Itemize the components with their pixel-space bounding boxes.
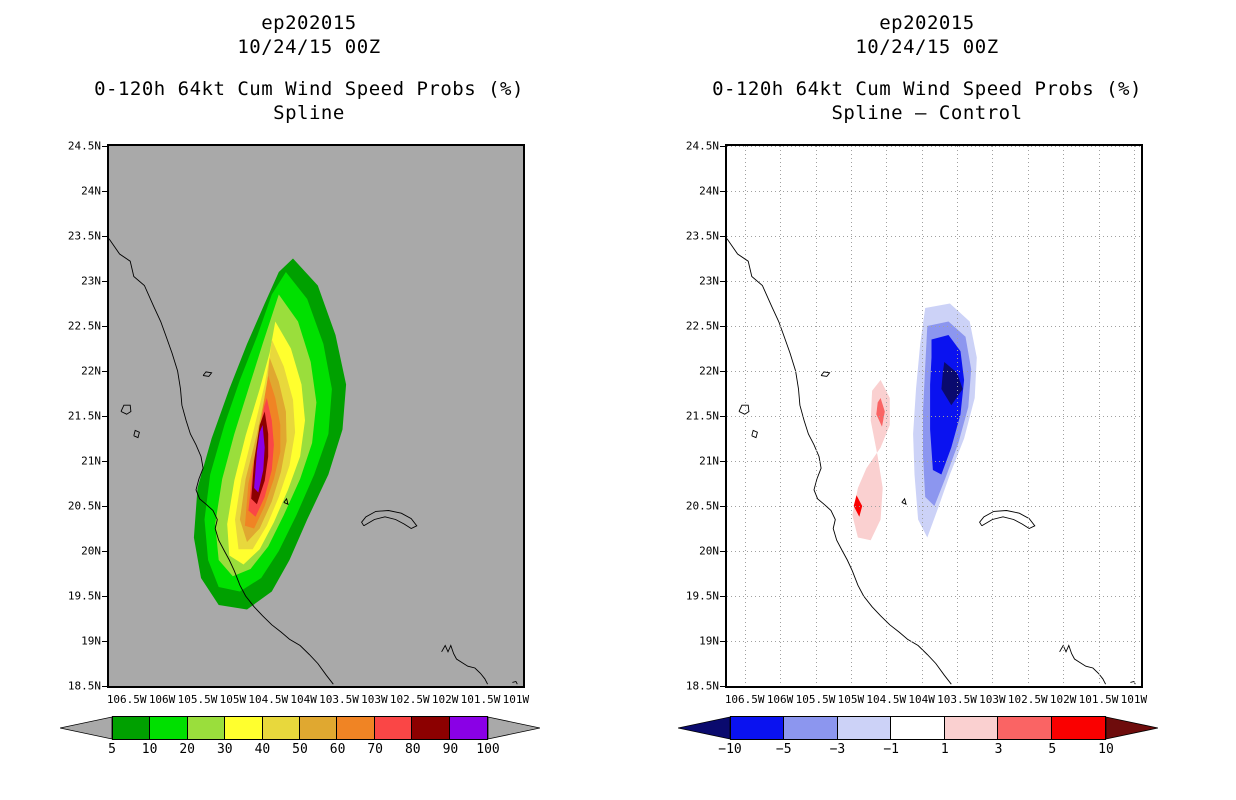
- colorbar-swatch: [838, 717, 891, 739]
- x-axis-tick-label: 103.5W: [319, 688, 359, 706]
- colorbar-tick-label: 5: [1048, 742, 1056, 757]
- colorbar-swatch: [784, 717, 837, 739]
- colorbar-swatch: [263, 717, 300, 739]
- x-axis-tick-label: 106.5W: [107, 688, 147, 706]
- x-axis-tick-label: 106W: [149, 688, 176, 706]
- colorbar-tick-label: 30: [217, 742, 233, 757]
- colorbar-swatch: [945, 717, 998, 739]
- coastline: [121, 405, 131, 414]
- x-axis-tick-label: 102.5W: [390, 688, 430, 706]
- gridline-horizontal: [727, 461, 1141, 462]
- coastline: [442, 646, 488, 685]
- y-axis-tick-label: 21N: [699, 455, 725, 468]
- x-axis-tick-label: 105W: [220, 688, 247, 706]
- x-axis-tick-label: 101.5W: [1079, 688, 1119, 706]
- contour-band: [930, 335, 964, 475]
- y-axis-tick-label: 24.5N: [686, 140, 725, 153]
- colorbar-tick-label: 20: [179, 742, 195, 757]
- plot-frame-right: [725, 144, 1143, 688]
- plot-frame-left: [107, 144, 525, 688]
- gridline-horizontal: [727, 236, 1141, 237]
- y-axis-tick-label: 24.5N: [68, 140, 107, 153]
- x-axis-tick-label: 105.5W: [178, 688, 218, 706]
- coastline: [203, 372, 212, 377]
- x-axis-tick-label: 101W: [503, 688, 530, 706]
- colorbar-tick-label: 40: [255, 742, 271, 757]
- y-axis-tick-label: 21.5N: [686, 410, 725, 423]
- x-axis-tick-label: 106.5W: [725, 688, 765, 706]
- x-axis-tick-label: 101.5W: [461, 688, 501, 706]
- y-axis-tick-label: 18.5N: [686, 680, 725, 693]
- colorbar-tick-label: 60: [330, 742, 346, 757]
- colorbar-tick-label: 90: [443, 742, 459, 757]
- gridline-horizontal: [727, 326, 1141, 327]
- contour-layer-left: [109, 146, 523, 686]
- model-id-left: ep202015: [0, 12, 618, 34]
- colorbar-swatch: [188, 717, 225, 739]
- y-axis-tick-label: 24N: [81, 185, 107, 198]
- y-axis-tick-label: 20N: [699, 545, 725, 558]
- forecast-date-left: 10/24/15 00Z: [0, 36, 618, 58]
- panel-subtitle-left: Spline: [0, 102, 618, 124]
- gridline-horizontal: [727, 371, 1141, 372]
- panel-titles-right: ep202015 10/24/15 00Z 0-120h 64kt Cum Wi…: [618, 0, 1236, 124]
- gridline-horizontal: [727, 596, 1141, 597]
- coastline: [821, 372, 830, 377]
- x-axis-tick-label: 102W: [432, 688, 459, 706]
- x-axis-tick-label: 101W: [1121, 688, 1148, 706]
- x-axis-tick-label: 104.5W: [866, 688, 906, 706]
- coastline: [362, 511, 417, 529]
- gridline-horizontal: [727, 506, 1141, 507]
- y-axis-tick-label: 19N: [699, 635, 725, 648]
- colorbar-cells: [730, 716, 1106, 740]
- colorbar-tick-label: 100: [476, 742, 499, 757]
- colorbar-tick-label: 10: [1098, 742, 1114, 757]
- gridline-horizontal: [727, 281, 1141, 282]
- y-axis-tick-label: 23.5N: [686, 230, 725, 243]
- colorbar-swatch: [337, 717, 374, 739]
- y-axis-tick-label: 20N: [81, 545, 107, 558]
- colorbar-cells: [112, 716, 488, 740]
- colorbar-tick-label: 50: [292, 742, 308, 757]
- colorbar-tick-label: 1: [941, 742, 949, 757]
- colorbar-tick-label: −1: [883, 742, 899, 757]
- gridline-horizontal: [727, 551, 1141, 552]
- x-axis-tick-label: 104W: [290, 688, 317, 706]
- map-plot-left: 24.5N24N23.5N23N22.5N22N21.5N21N20.5N20N…: [107, 144, 525, 688]
- y-axis-tick-label: 24N: [699, 185, 725, 198]
- colorbar-swatch: [412, 717, 449, 739]
- colorbar-low-cap: [678, 716, 730, 740]
- y-axis-tick-label: 19.5N: [686, 590, 725, 603]
- colorbar-swatch: [300, 717, 337, 739]
- colorbar-tick-label: 70: [367, 742, 383, 757]
- x-axis-tick-label: 102W: [1050, 688, 1077, 706]
- gridline-horizontal: [727, 686, 1141, 687]
- x-axis-tick-label: 103.5W: [937, 688, 977, 706]
- y-axis-tick-label: 23N: [81, 275, 107, 288]
- panel-subtitle-right: Spline — Control: [618, 102, 1236, 124]
- x-axis-tick-label: 105W: [838, 688, 865, 706]
- colorbar-swatch: [891, 717, 944, 739]
- y-axis-tick-label: 20.5N: [68, 500, 107, 513]
- colorbar-swatch: [998, 717, 1051, 739]
- colorbar-swatch: [1052, 717, 1105, 739]
- y-axis-tick-label: 18.5N: [68, 680, 107, 693]
- x-axis-tick-label: 103W: [979, 688, 1006, 706]
- y-axis-tick-label: 19.5N: [68, 590, 107, 603]
- x-axis-tick-label: 106W: [767, 688, 794, 706]
- y-axis-tick-label: 21.5N: [68, 410, 107, 423]
- colorbar-swatch: [225, 717, 262, 739]
- colorbar-tick-label: −10: [718, 742, 741, 757]
- colorbar-probability: 5102030405060708090100: [60, 716, 540, 740]
- colorbar-tick-label: −3: [830, 742, 846, 757]
- y-axis-tick-label: 21N: [81, 455, 107, 468]
- y-axis-tick-label: 19N: [81, 635, 107, 648]
- x-axis-tick-label: 104W: [908, 688, 935, 706]
- panel-spline-minus-control: ep202015 10/24/15 00Z 0-120h 64kt Cum Wi…: [618, 0, 1236, 800]
- colorbar-tick-label: 80: [405, 742, 421, 757]
- product-title-right: 0-120h 64kt Cum Wind Speed Probs (%): [618, 78, 1236, 100]
- coastline: [512, 682, 517, 685]
- colorbar-high-cap: [488, 716, 540, 740]
- panel-titles-left: ep202015 10/24/15 00Z 0-120h 64kt Cum Wi…: [0, 0, 618, 124]
- colorbar-swatch: [375, 717, 412, 739]
- gridline-horizontal: [727, 416, 1141, 417]
- panel-spline: ep202015 10/24/15 00Z 0-120h 64kt Cum Wi…: [0, 0, 618, 800]
- gridline-horizontal: [727, 191, 1141, 192]
- y-axis-tick-label: 23N: [699, 275, 725, 288]
- y-axis-tick-label: 22.5N: [686, 320, 725, 333]
- y-axis-tick-label: 20.5N: [686, 500, 725, 513]
- colorbar-low-cap: [60, 716, 112, 740]
- y-axis-tick-label: 22.5N: [68, 320, 107, 333]
- colorbar-swatch: [113, 717, 150, 739]
- y-axis-tick-label: 22N: [699, 365, 725, 378]
- colorbar-tick-label: 3: [995, 742, 1003, 757]
- product-title-left: 0-120h 64kt Cum Wind Speed Probs (%): [0, 78, 618, 100]
- x-axis-tick-label: 103W: [361, 688, 388, 706]
- colorbar-difference: −10−5−3−113510: [678, 716, 1158, 740]
- forecast-date-right: 10/24/15 00Z: [618, 36, 1236, 58]
- map-plot-right: 24.5N24N23.5N23N22.5N22N21.5N21N20.5N20N…: [725, 144, 1143, 688]
- coastline: [902, 499, 906, 504]
- gridline-horizontal: [727, 641, 1141, 642]
- colorbar-tick-label: 5: [108, 742, 116, 757]
- x-axis-tick-label: 105.5W: [796, 688, 836, 706]
- colorbar-high-cap: [1106, 716, 1158, 740]
- y-axis-tick-label: 23.5N: [68, 230, 107, 243]
- coastline: [980, 511, 1035, 529]
- y-axis-tick-label: 22N: [81, 365, 107, 378]
- coastline: [134, 430, 140, 437]
- colorbar-swatch: [731, 717, 784, 739]
- colorbar-swatch: [150, 717, 187, 739]
- gridline-horizontal: [727, 146, 1141, 147]
- colorbar-tick-label: 10: [142, 742, 158, 757]
- coastline: [752, 430, 758, 437]
- colorbar-tick-label: −5: [776, 742, 792, 757]
- x-axis-tick-label: 102.5W: [1008, 688, 1048, 706]
- x-axis-tick-label: 104.5W: [248, 688, 288, 706]
- model-id-right: ep202015: [618, 12, 1236, 34]
- colorbar-swatch: [450, 717, 487, 739]
